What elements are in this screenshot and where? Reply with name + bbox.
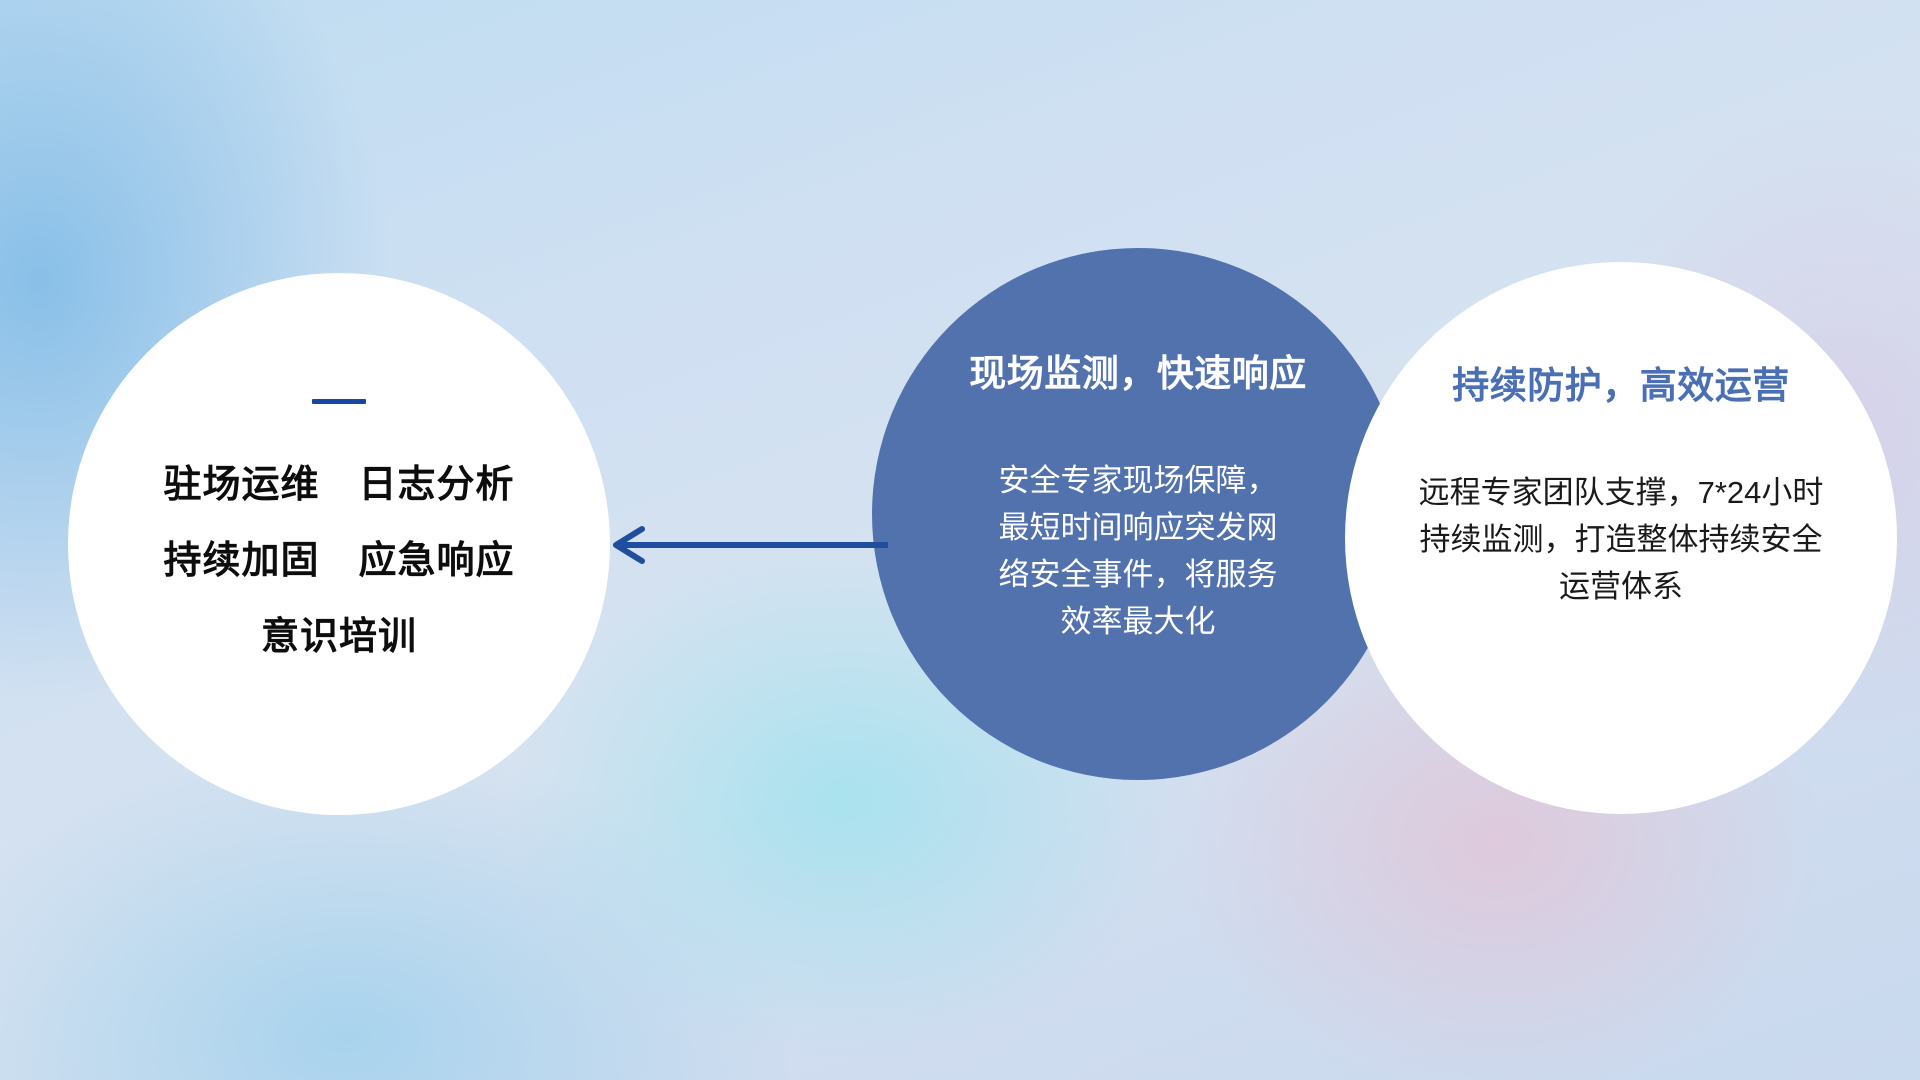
left-circle-line-3: 意识培训: [261, 618, 417, 656]
left-circle-divider: [312, 399, 366, 404]
left-circle-line-1: 驻场运维 日志分析: [163, 466, 514, 504]
left-circle-content: 驻场运维 日志分析 持续加固 应急响应 意识培训: [68, 273, 610, 815]
right-circle-body: 远程专家团队支撑，7*24小时持续监测，打造整体持续安全运营体系: [1411, 469, 1831, 610]
middle-circle-content: 现场监测，快速响应 安全专家现场保障，最短时间响应突发网络安全事件，将服务效率最…: [872, 248, 1404, 780]
flow-arrow-left: [600, 520, 890, 570]
left-circle-line-2: 持续加固 应急响应: [163, 542, 514, 580]
middle-circle-heading: 现场监测，快速响应: [969, 354, 1307, 395]
middle-circle-body: 安全专家现场保障，最短时间响应突发网络安全事件，将服务效率最大化: [988, 457, 1288, 645]
left-pointing-arrow-icon: [600, 520, 890, 570]
right-circle-content: 持续防护，高效运营 远程专家团队支撑，7*24小时持续监测，打造整体持续安全运营…: [1345, 262, 1897, 814]
right-circle-heading: 持续防护，高效运营: [1452, 366, 1790, 407]
